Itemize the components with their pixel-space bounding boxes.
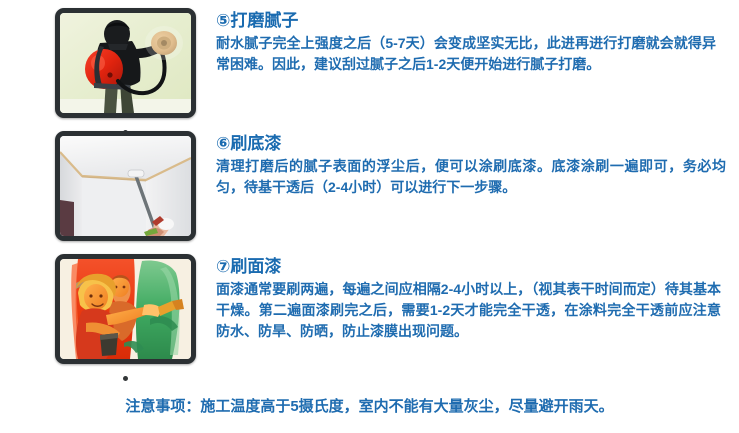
step-6-text-column: ⑥刷底漆 清理打磨后的腻子表面的浮尘后，便可以涂刷底漆。底漆涂刷一遍即可，务必均… — [216, 131, 739, 198]
worker-sanding-wall-photo-inner — [60, 13, 191, 113]
step-7-body: 面漆通常要刷两遍，每遍之间应相隔2-4小时以上，（视其表干时间而定）待其基本干燥… — [216, 279, 721, 342]
ceiling-roller-art — [60, 136, 191, 236]
step-7-title: ⑦刷面漆 — [216, 256, 739, 278]
step-6-body: 清理打磨后的腻子表面的浮尘后，便可以涂刷底漆。底漆涂刷一遍即可，务必均匀，待基干… — [216, 156, 726, 198]
colorful-painting-illustration-inner — [60, 259, 191, 359]
step-5-title: ⑤打磨腻子 — [216, 10, 739, 32]
step-5-text-column: ⑤打磨腻子 耐水腻子完全上强度之后（5-7天）会变成坚实无比，此进再进行打磨就会… — [216, 8, 739, 75]
colorful-painting-illustration — [55, 254, 196, 364]
step-row-7: ⑦刷面漆 面漆通常要刷两遍，每遍之间应相隔2-4小时以上，（视其表干时间而定）待… — [0, 254, 739, 342]
step-connector-dot — [123, 376, 128, 381]
footer-note: 注意事项：施工温度高于5摄氏度，室内不能有大量灰尘，尽量避开雨天。 — [0, 396, 739, 418]
people-painting-wall-art — [60, 259, 191, 359]
step-row-6: ⑥刷底漆 清理打磨后的腻子表面的浮尘后，便可以涂刷底漆。底漆涂刷一遍即可，务必均… — [0, 131, 739, 198]
step-row-5: ⑤打磨腻子 耐水腻子完全上强度之后（5-7天）会变成坚实无比，此进再进行打磨就会… — [0, 8, 739, 75]
worker-sanding-wall-photo — [55, 8, 196, 118]
step-6-title: ⑥刷底漆 — [216, 133, 739, 155]
paint-steps-infographic: ⑤打磨腻子 耐水腻子完全上强度之后（5-7天）会变成坚实无比，此进再进行打磨就会… — [0, 0, 739, 433]
roller-painting-ceiling-photo — [55, 131, 196, 241]
step-5-body: 耐水腻子完全上强度之后（5-7天）会变成坚实无比，此进再进行打磨就会就得异常困难… — [216, 33, 716, 75]
step-7-text-column: ⑦刷面漆 面漆通常要刷两遍，每遍之间应相隔2-4小时以上，（视其表干时间而定）待… — [216, 254, 739, 342]
roller-painting-ceiling-photo-inner — [60, 136, 191, 236]
worker-sanding-wall-art — [60, 13, 191, 113]
